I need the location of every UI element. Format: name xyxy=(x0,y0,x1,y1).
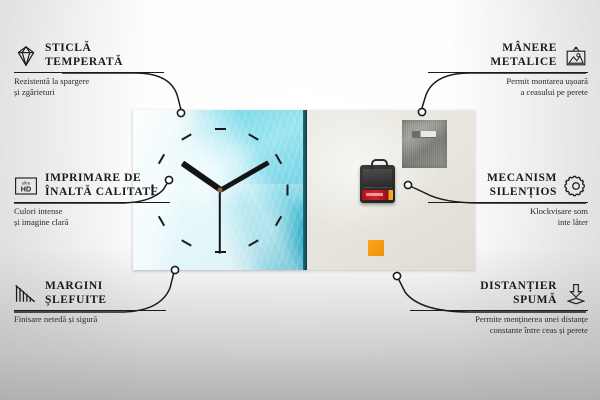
feature-heading: STICLĂ TEMPERATĂ xyxy=(14,42,164,69)
metal-hanger-bracket xyxy=(402,120,447,168)
ultra-hd-icon: ultra HD xyxy=(14,175,38,197)
feature-desc-line2: inte låter xyxy=(428,217,588,227)
quartz-movement xyxy=(360,165,395,203)
feature-title: DISTANȚIER SPUMĂ xyxy=(480,280,557,307)
hanger-slot xyxy=(412,131,436,137)
diamond-icon xyxy=(14,45,38,67)
clock-center-pin xyxy=(218,188,223,193)
feature-title: IMPRIMARE DE ÎNALTĂ CALITATE xyxy=(45,172,159,199)
divider xyxy=(14,202,170,203)
clock-tick xyxy=(158,154,165,165)
picture-hanger-icon xyxy=(564,45,588,67)
clock-tick xyxy=(275,215,282,226)
infographic-stage: STICLĂ TEMPERATĂ Rezistentă la spargere … xyxy=(0,0,600,400)
clock-hand xyxy=(219,160,270,192)
divider xyxy=(14,310,166,311)
clock-tick xyxy=(181,240,192,247)
svg-text:HD: HD xyxy=(21,184,31,193)
feature-title: MARGINI ȘLEFUITE xyxy=(45,280,107,307)
feature-polished-edges: MARGINI ȘLEFUITE Finisare netedă și sigu… xyxy=(14,280,166,325)
feature-desc-line2: constante între ceas și perete xyxy=(410,325,588,335)
down-arrow-stack-icon xyxy=(564,283,588,305)
divider xyxy=(14,72,164,73)
divider xyxy=(428,72,588,73)
feature-silent-mechanism: MECANISM SILENȚIOS Klockvisare som inte … xyxy=(428,172,588,227)
feature-heading: DISTANȚIER SPUMĂ xyxy=(410,280,588,307)
feature-heading: MÂNERE METALICE xyxy=(428,42,588,69)
clock-hand xyxy=(181,161,222,192)
clock-tick xyxy=(215,128,226,130)
battery-label xyxy=(366,193,383,196)
feature-desc-line2: și imagine clară xyxy=(14,217,170,227)
feature-desc-line1: Rezistentă la spargere xyxy=(14,76,164,86)
feature-high-quality-print: ultra HD IMPRIMARE DE ÎNALTĂ CALITATE Cu… xyxy=(14,172,170,227)
feature-title: MÂNERE METALICE xyxy=(490,42,557,69)
clock-hand xyxy=(219,190,221,254)
feature-heading: MECANISM SILENȚIOS xyxy=(428,172,588,199)
feature-desc-line1: Finisare netedă și sigură xyxy=(14,314,166,324)
movement-top-highlight xyxy=(363,169,392,186)
hanger-texture xyxy=(402,120,447,168)
feature-metal-handles: MÂNERE METALICE Permit montarea ușoară a… xyxy=(428,42,588,97)
foam-spacer xyxy=(368,240,384,256)
feature-desc-line1: Permite menținerea unei distanțe xyxy=(410,314,588,324)
clock-tick xyxy=(287,185,289,196)
feature-desc-line2: a ceasului pe perete xyxy=(428,87,588,97)
feature-heading: MARGINI ȘLEFUITE xyxy=(14,280,166,307)
feature-desc-line1: Klockvisare som xyxy=(428,206,588,216)
feature-desc-line2: și zgârieturi xyxy=(14,87,164,97)
movement-seam xyxy=(363,187,392,188)
clock-tick xyxy=(248,133,259,140)
feature-heading: ultra HD IMPRIMARE DE ÎNALTĂ CALITATE xyxy=(14,172,170,199)
clock-tick xyxy=(181,133,192,140)
feature-desc-line1: Culori intense xyxy=(14,206,170,216)
divider xyxy=(410,310,588,311)
product-image xyxy=(133,110,475,270)
clock-tick xyxy=(248,240,259,247)
feature-title: STICLĂ TEMPERATĂ xyxy=(45,42,123,69)
diagonal-lines-icon xyxy=(14,283,38,305)
divider xyxy=(428,202,588,203)
battery xyxy=(362,190,393,200)
feature-tempered-glass: STICLĂ TEMPERATĂ Rezistentă la spargere … xyxy=(14,42,164,97)
gear-icon xyxy=(564,175,588,197)
feature-foam-spacer: DISTANȚIER SPUMĂ Permite menținerea unei… xyxy=(410,280,588,335)
clock-tick xyxy=(275,154,282,165)
feature-desc-line1: Permit montarea ușoară xyxy=(428,76,588,86)
feature-title: MECANISM SILENȚIOS xyxy=(487,172,557,199)
